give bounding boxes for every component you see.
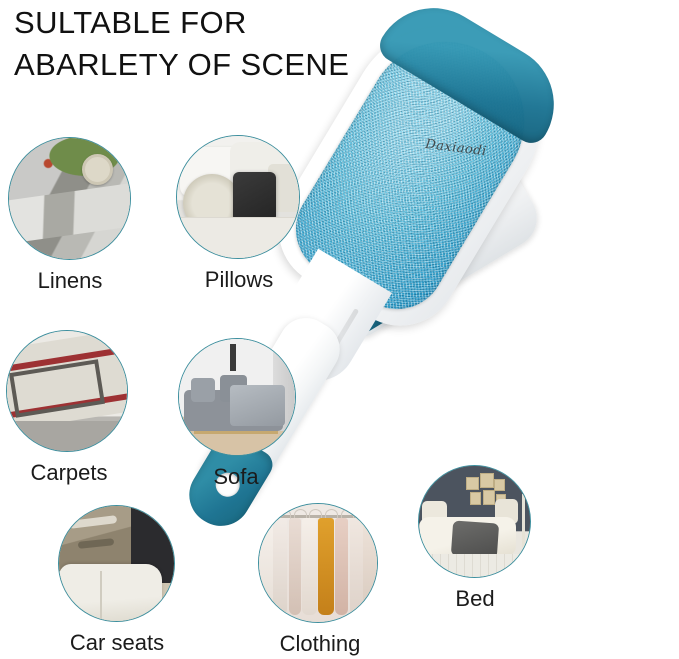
scene-thumb-bed[interactable]: [418, 465, 531, 578]
carpets-photo: [6, 330, 128, 452]
sofa-throw-blanket: [230, 385, 285, 426]
scene-thumb-car-seats[interactable]: [58, 505, 175, 622]
picture-frame-icon: [466, 477, 478, 491]
brush-center-ridge: [322, 308, 359, 365]
scene-label-sofa: Sofa: [213, 464, 258, 490]
scene-thumb-carpets[interactable]: [6, 330, 128, 452]
pillow-dark: [233, 172, 276, 222]
headline-line-1: SULTABLE FOR: [14, 2, 434, 44]
scene-thumb-pillows[interactable]: [176, 135, 300, 259]
self-cleaning-base-dock: [290, 127, 548, 347]
garment: [335, 518, 348, 616]
picture-frame-icon: [494, 479, 505, 491]
floor-strip: [6, 421, 128, 452]
car-door-panel: [58, 505, 133, 571]
car-seats-photo: [58, 505, 175, 622]
garment: [259, 518, 272, 616]
scene-label-carpets: Carpets: [30, 460, 107, 486]
picture-frame-icon: [470, 492, 481, 506]
picture-frame-icon: [480, 473, 494, 488]
scene-thumb-clothing[interactable]: [258, 503, 378, 623]
clothing-photo: [258, 503, 378, 623]
bed-throw-blanket: [450, 520, 498, 558]
car-seat-seam: [100, 571, 102, 622]
sofa-photo: [178, 338, 296, 456]
scene-label-pillows: Pillows: [205, 267, 273, 293]
page-title: SULTABLE FOR ABARLETY OF SCENE: [14, 2, 434, 86]
garment: [363, 518, 378, 616]
linens-fold: [8, 180, 131, 245]
garment: [273, 518, 288, 616]
dock-teal-cap: [289, 212, 411, 345]
mug-icon: [82, 154, 113, 185]
picture-frame-icon: [483, 490, 495, 505]
scene-label-bed: Bed: [455, 586, 494, 612]
garment: [350, 518, 363, 616]
linens-photo: [8, 137, 131, 260]
garment-yellow: [318, 518, 334, 616]
headline-line-2: ABARLETY OF SCENE: [14, 44, 434, 86]
scene-thumb-sofa[interactable]: [178, 338, 296, 456]
bed-photo: [418, 465, 531, 578]
bed-headboard-post: [522, 494, 525, 547]
garment: [302, 518, 317, 616]
scene-label-car-seats: Car seats: [70, 630, 164, 656]
garment: [289, 518, 301, 616]
pillows-photo: [176, 135, 300, 259]
brand-script-mark: Daxiaodi: [421, 137, 518, 192]
sofa-cushion-left: [191, 378, 215, 402]
bedroom-floor: [418, 554, 531, 578]
dock-shell: [290, 127, 548, 347]
product-infographic: SULTABLE FOR ABARLETY OF SCENE Daxiaodi: [0, 0, 679, 659]
quilt-surface: [176, 217, 300, 259]
floor-lamp: [230, 344, 236, 370]
scene-thumb-linens[interactable]: [8, 137, 131, 260]
scene-label-linens: Linens: [38, 268, 103, 294]
sofa-base-rail: [194, 431, 278, 435]
car-rear-seat: [59, 564, 161, 623]
scene-label-clothing: Clothing: [280, 631, 361, 657]
